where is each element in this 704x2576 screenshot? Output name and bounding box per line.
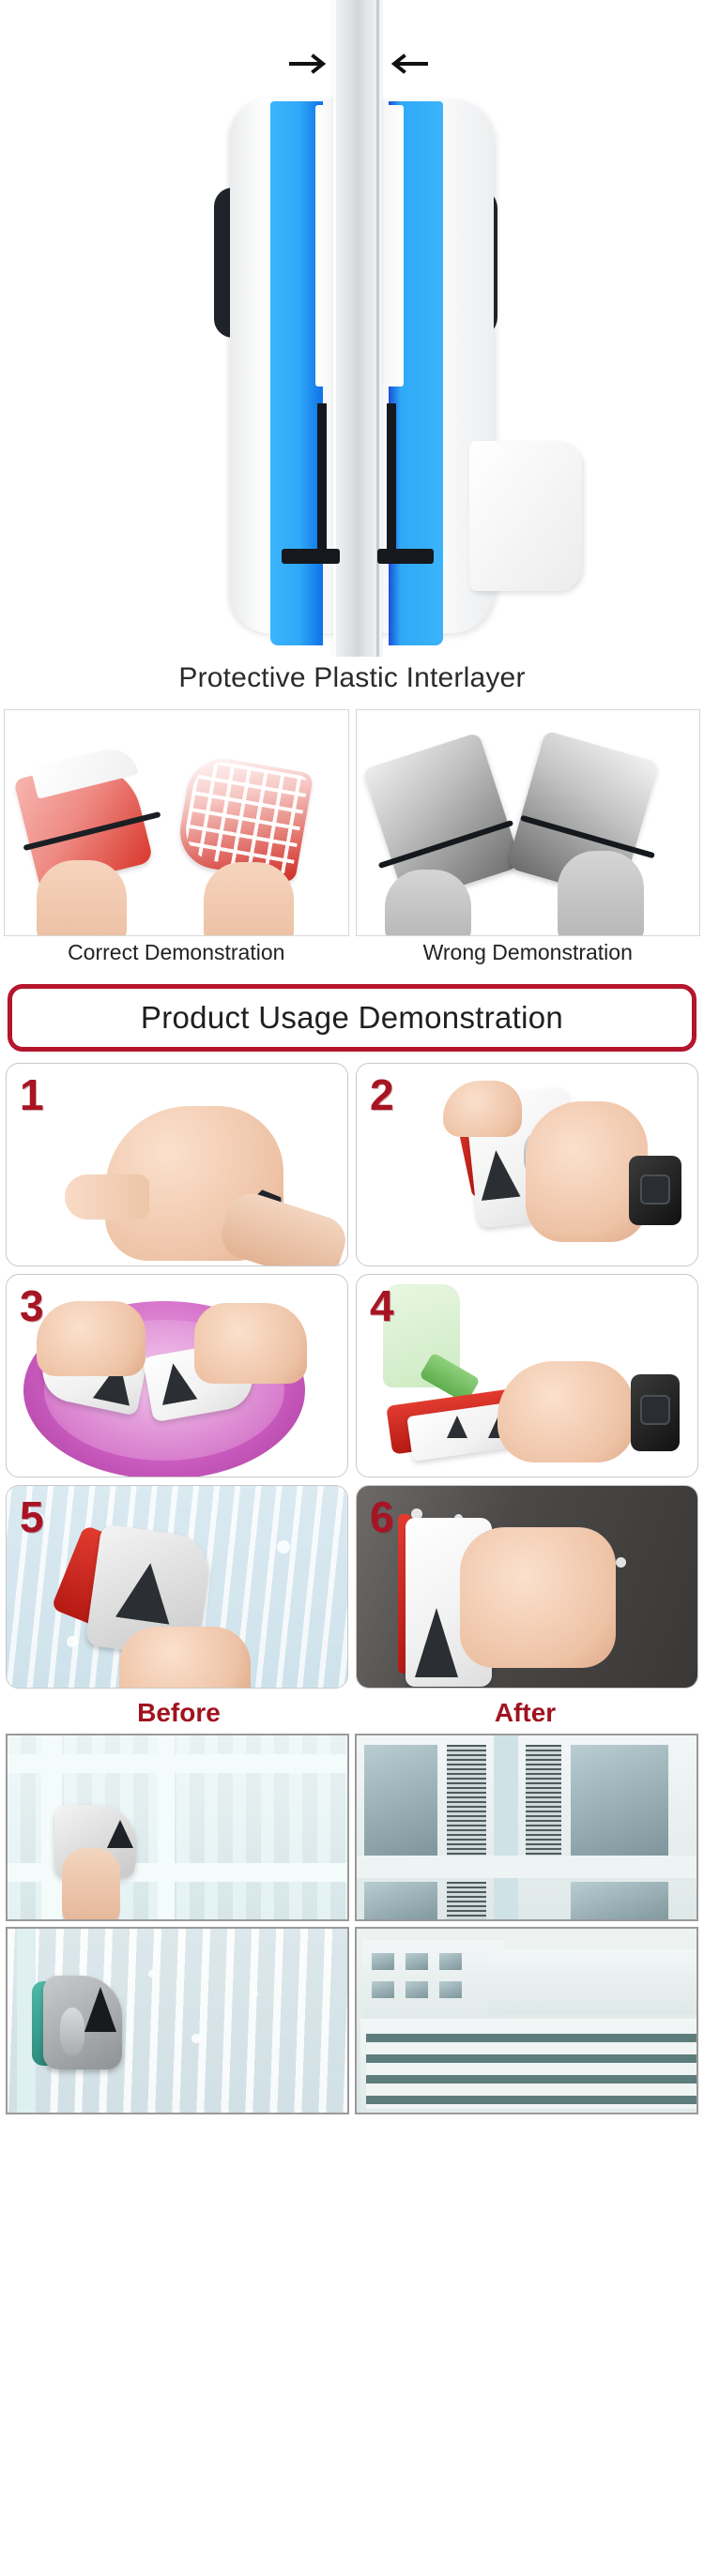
after-label: After [352,1698,698,1728]
step-1-scene [7,1064,347,1265]
before-after-labels: Before After [0,1689,704,1734]
result-clear-city-view [355,1927,698,2114]
cleaner-handle [469,441,582,591]
hand-left [37,860,127,936]
clip-bottom-right [377,549,434,564]
correct-demonstration-photo [4,709,349,936]
product-usage-banner: Product Usage Demonstration [8,984,696,1052]
arrow-left-pointing-icon [385,52,428,81]
clip-bottom-left [282,549,340,564]
glass-pane [333,0,382,657]
droplet [148,1970,156,1977]
building-window [571,1882,668,1921]
building-window [439,1953,462,1970]
step-card-3: 3 [6,1274,348,1477]
clip-vertical-right [387,403,396,563]
interlayer-caption: Protective Plastic Interlayer [0,657,704,709]
results-grid [0,1734,704,2122]
hero-product-image [0,0,704,657]
droplet [67,1636,78,1647]
result-before-hazy-window [6,1734,349,1921]
product-usage-banner-text: Product Usage Demonstration [141,1000,563,1036]
step-3-scene [7,1275,347,1477]
mid-building [488,1949,698,2015]
building-window [372,1981,394,1998]
thumb-illustration [65,1174,149,1220]
louvered-shutter [526,1745,561,1856]
step-card-2: 2 [356,1063,698,1266]
window-mullion [494,1735,518,1921]
droplet [191,2034,201,2043]
building-window [439,1981,462,1998]
watch-face [640,1174,670,1205]
step-card-6: 6 [356,1485,698,1689]
building-window [372,1953,394,1970]
fingers-left [443,1081,522,1137]
step-number-5: 5 [20,1492,44,1542]
watch-face-step4 [640,1395,670,1425]
correct-demonstration-label: Correct Demonstration [4,940,349,965]
arrow-right-pointing-icon [289,52,332,81]
step-card-4: 4 [356,1274,698,1477]
hand-right-dipping [194,1303,307,1384]
step-number-2: 2 [370,1069,394,1120]
building-window [571,1745,668,1856]
result-after-clear-window [355,1734,698,1921]
droplet [277,1540,290,1553]
louvered-shutter [447,1745,486,1856]
wrong-demonstration-photo [356,709,701,936]
step-4-scene [357,1275,697,1477]
step-card-5: 5 [6,1485,348,1689]
step-6-scene [357,1486,697,1688]
usage-steps-grid: 1 2 [0,1063,704,1689]
building-window [406,1981,428,1998]
wrong-demonstration-label: Wrong Demonstration [356,940,701,965]
hand-pressing [119,1627,251,1688]
window-frame-horizontal [8,1754,349,1773]
demonstration-labels: Correct Demonstration Wrong Demonstratio… [0,940,704,965]
result-rain-streaked-window [6,1927,349,2114]
hand-left-dipping [37,1301,145,1376]
step-card-1: 1 [6,1063,348,1266]
building-floor-band [357,1856,698,1878]
step-5-scene [7,1486,347,1688]
hand-gray-right [558,851,644,936]
clip-vertical-left [317,403,327,563]
before-label: Before [6,1698,352,1728]
step-number-6: 6 [370,1492,394,1542]
louvered-shutter [447,1882,486,1921]
step-number-1: 1 [20,1069,44,1120]
step-number-3: 3 [20,1280,44,1331]
droplet [616,1557,626,1568]
step-2-scene [357,1064,697,1265]
droplet [252,1991,258,1997]
building-window [364,1882,437,1921]
product-detail-page: Protective Plastic Interlayer Correct De… [0,0,704,2576]
demonstration-row [0,709,704,936]
step-number-4: 4 [370,1280,394,1331]
hand-holding-cleaner [497,1361,635,1462]
building-window [406,1953,428,1970]
building-window [364,1745,437,1856]
grip-knob-result [60,2008,84,2056]
hand-gray-left [385,870,471,936]
hand-gripping [460,1527,616,1668]
hand-right [204,862,294,936]
window-rows [366,2034,698,2109]
hand-forearm [62,1848,120,1921]
